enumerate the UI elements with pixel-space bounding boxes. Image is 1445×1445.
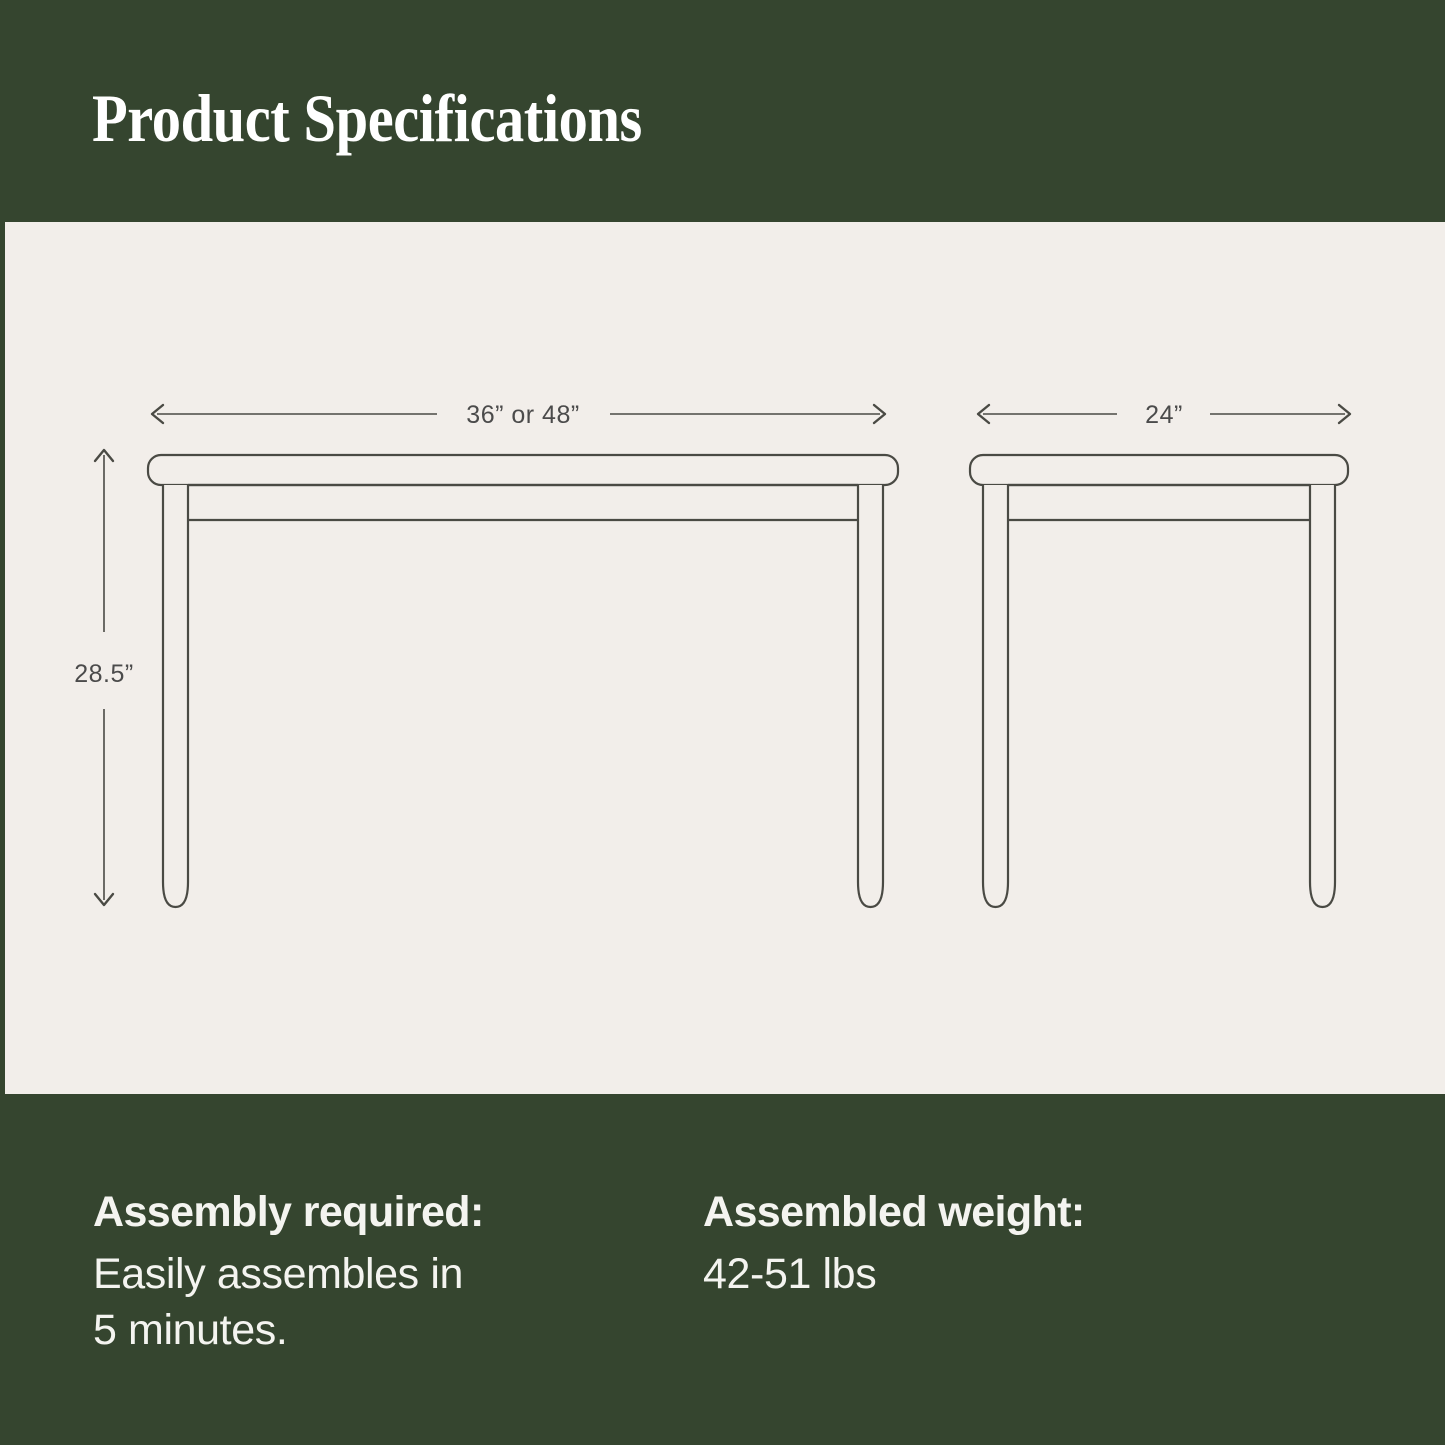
page-title: Product Specifications — [92, 84, 642, 152]
leg-front-right — [858, 485, 883, 907]
assembly-body-line1: Easily assembles in — [93, 1247, 673, 1303]
front-height-label: 28.5” — [74, 660, 133, 688]
spec-assembly-required: Assembly required: Easily assembles in 5… — [93, 1190, 673, 1359]
side-view-table — [970, 455, 1348, 907]
side-width-label: 24” — [1145, 401, 1183, 429]
header-band: Product Specifications — [0, 0, 1445, 222]
weight-heading: Assembled weight: — [703, 1190, 1263, 1235]
assembly-body-line2: 5 minutes. — [93, 1303, 673, 1359]
diagram-panel: 36” or 48” 24” 28.5” — [5, 222, 1445, 1094]
dimension-front-width: 36” or 48” — [152, 401, 885, 429]
table-dimension-diagram: 36” or 48” 24” 28.5” — [5, 222, 1445, 1094]
leg-side-left — [983, 485, 1008, 907]
front-view-table — [148, 455, 898, 907]
dimension-front-height: 28.5” — [74, 450, 133, 905]
spec-assembled-weight: Assembled weight: 42-51 lbs — [703, 1190, 1263, 1303]
leg-side-right — [1310, 485, 1335, 907]
tabletop-front — [148, 455, 898, 485]
tabletop-side — [970, 455, 1348, 485]
leg-front-left — [163, 485, 188, 907]
product-specifications-page: Product Specifications — [0, 0, 1445, 1445]
weight-body-line1: 42-51 lbs — [703, 1247, 1263, 1303]
dimension-side-width: 24” — [978, 401, 1350, 429]
assembly-heading: Assembly required: — [93, 1190, 673, 1235]
front-width-label: 36” or 48” — [466, 401, 579, 429]
